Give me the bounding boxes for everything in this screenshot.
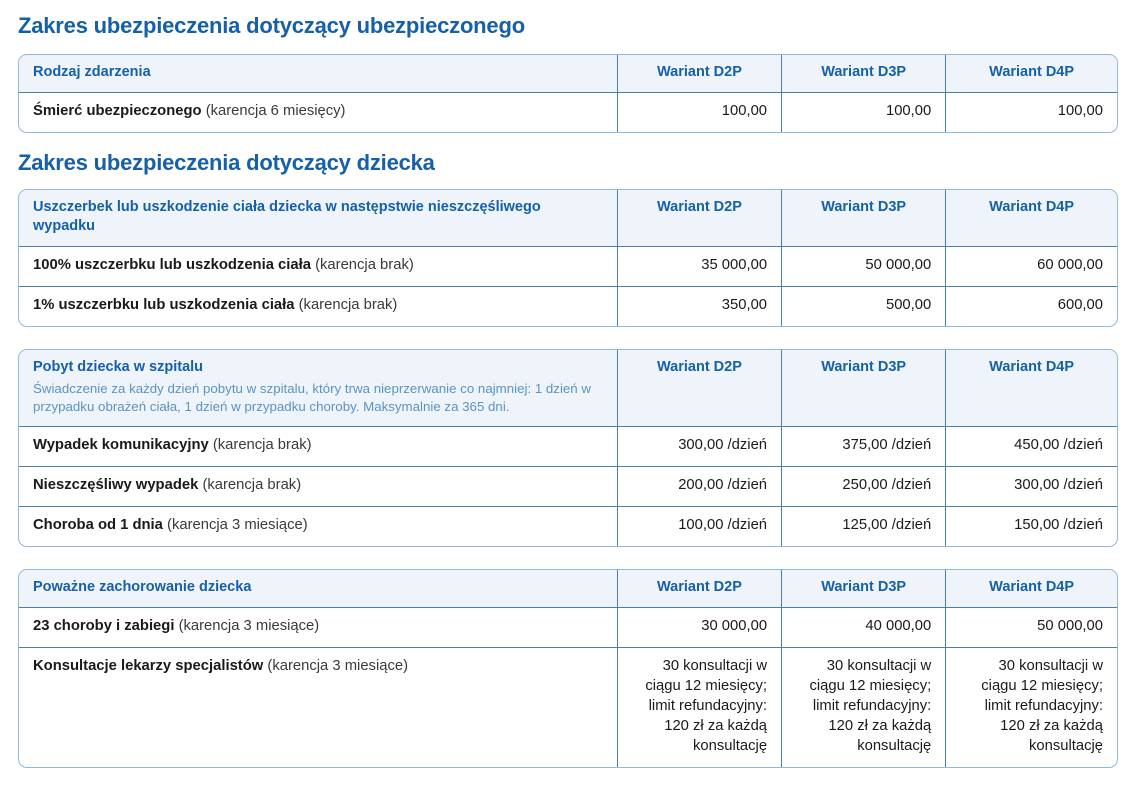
row-label-note: (karencja brak) (202, 477, 301, 493)
cell-value-d4p: 30 konsultacji w ciągu 12 miesięcy; limi… (946, 647, 1117, 766)
cell-value-d3p: 500,00 (782, 287, 946, 326)
row-label: Nieszczęśliwy wypadek (karencja brak) (19, 467, 617, 507)
column-header-variant-d4p: Wariant D4P (946, 55, 1117, 92)
row-label-bold: Wypadek komunikacyjny (33, 437, 209, 453)
table-body: 23 choroby i zabiegi (karencja 3 miesiąc… (19, 607, 1117, 766)
cell-value-d3p: 40 000,00 (782, 607, 946, 647)
row-label-note: (karencja 3 miesiące) (167, 517, 308, 533)
spacer (18, 327, 1118, 349)
header-title: Rodzaj zdarzenia (33, 64, 151, 80)
column-header-variant-d2p: Wariant D2P (617, 55, 781, 92)
column-header-variant-d3p: Wariant D3P (782, 190, 946, 247)
header-row: Poważne zachorowanie dziecka Wariant D2P… (19, 570, 1117, 607)
row-label-note: (karencja 6 miesięcy) (206, 103, 346, 119)
table-row: Choroba od 1 dnia (karencja 3 miesiące) … (19, 507, 1117, 546)
table-body: Wypadek komunikacyjny (karencja brak) 30… (19, 427, 1117, 546)
row-label-note: (karencja brak) (213, 437, 312, 453)
table-header: Poważne zachorowanie dziecka Wariant D2P… (19, 570, 1117, 607)
table: Poważne zachorowanie dziecka Wariant D2P… (19, 570, 1117, 766)
row-label-bold: Nieszczęśliwy wypadek (33, 477, 198, 493)
row-label: 100% uszczerbku lub uszkodzenia ciała (k… (19, 247, 617, 287)
column-header-variant-d2p: Wariant D2P (617, 190, 781, 247)
row-label-note: (karencja brak) (315, 257, 414, 273)
table-row: Konsultacje lekarzy specjalistów (karenc… (19, 647, 1117, 766)
row-label: Śmierć ubezpieczonego (karencja 6 miesię… (19, 92, 617, 131)
column-header-description: Pobyt dziecka w szpitalu Świadczenie za … (19, 350, 617, 427)
cell-value-d3p: 50 000,00 (782, 247, 946, 287)
table-child-hospital-stay: Pobyt dziecka w szpitalu Świadczenie za … (18, 349, 1118, 547)
cell-value-d2p: 100,00 /dzień (617, 507, 781, 546)
column-header-description: Uszczerbek lub uszkodzenie ciała dziecka… (19, 190, 617, 247)
row-label-bold: 100% uszczerbku lub uszkodzenia ciała (33, 257, 311, 273)
table-row: Śmierć ubezpieczonego (karencja 6 miesię… (19, 92, 1117, 131)
table-header: Uszczerbek lub uszkodzenie ciała dziecka… (19, 190, 1117, 247)
cell-value-d4p: 60 000,00 (946, 247, 1117, 287)
cell-value-d3p: 30 konsultacji w ciągu 12 miesięcy; limi… (782, 647, 946, 766)
table: Uszczerbek lub uszkodzenie ciała dziecka… (19, 190, 1117, 326)
cell-value-d2p: 350,00 (617, 287, 781, 326)
row-label-bold: Konsultacje lekarzy specjalistów (33, 658, 263, 674)
header-title: Uszczerbek lub uszkodzenie ciała dziecka… (33, 199, 541, 235)
cell-value-d2p: 30 000,00 (617, 607, 781, 647)
table-body: Śmierć ubezpieczonego (karencja 6 miesię… (19, 92, 1117, 131)
cell-value-d4p: 300,00 /dzień (946, 467, 1117, 507)
row-label-note: (karencja 3 miesiące) (267, 658, 408, 674)
row-label: 23 choroby i zabiegi (karencja 3 miesiąc… (19, 607, 617, 647)
cell-value-d2p: 100,00 (617, 92, 781, 131)
row-label-bold: Choroba od 1 dnia (33, 517, 163, 533)
cell-value-d2p: 35 000,00 (617, 247, 781, 287)
row-label-bold: Śmierć ubezpieczonego (33, 103, 202, 119)
column-header-variant-d4p: Wariant D4P (946, 350, 1117, 427)
row-label: Choroba od 1 dnia (karencja 3 miesiące) (19, 507, 617, 546)
row-label-bold: 23 choroby i zabiegi (33, 618, 174, 634)
cell-value-d4p: 50 000,00 (946, 607, 1117, 647)
cell-value-d4p: 100,00 (946, 92, 1117, 131)
spacer (18, 175, 1118, 189)
column-header-description: Poważne zachorowanie dziecka (19, 570, 617, 607)
header-title: Pobyt dziecka w szpitalu (33, 359, 203, 375)
cell-value-d3p: 250,00 /dzień (782, 467, 946, 507)
spacer (18, 38, 1118, 54)
spacer (18, 547, 1118, 569)
column-header-variant-d3p: Wariant D3P (782, 350, 946, 427)
header-subtitle: Świadczenie za każdy dzień pobytu w szpi… (33, 380, 603, 418)
cell-value-d3p: 125,00 /dzień (782, 507, 946, 546)
table-child-serious-illness: Poważne zachorowanie dziecka Wariant D2P… (18, 569, 1118, 767)
cell-value-d3p: 100,00 (782, 92, 946, 131)
table-insured-scope: Rodzaj zdarzenia Wariant D2P Wariant D3P… (18, 54, 1118, 133)
table: Pobyt dziecka w szpitalu Świadczenie za … (19, 350, 1117, 546)
row-label: Wypadek komunikacyjny (karencja brak) (19, 427, 617, 467)
cell-value-d2p: 200,00 /dzień (617, 467, 781, 507)
column-header-variant-d4p: Wariant D4P (946, 190, 1117, 247)
cell-value-d4p: 450,00 /dzień (946, 427, 1117, 467)
table-row: Wypadek komunikacyjny (karencja brak) 30… (19, 427, 1117, 467)
header-row: Uszczerbek lub uszkodzenie ciała dziecka… (19, 190, 1117, 247)
header-row: Rodzaj zdarzenia Wariant D2P Wariant D3P… (19, 55, 1117, 92)
row-label-note: (karencja brak) (299, 297, 398, 313)
section-heading-child: Zakres ubezpieczenia dotyczący dziecka (18, 133, 1118, 175)
column-header-variant-d4p: Wariant D4P (946, 570, 1117, 607)
table-header: Pobyt dziecka w szpitalu Świadczenie za … (19, 350, 1117, 427)
table-row: 1% uszczerbku lub uszkodzenia ciała (kar… (19, 287, 1117, 326)
column-header-description: Rodzaj zdarzenia (19, 55, 617, 92)
row-label-bold: 1% uszczerbku lub uszkodzenia ciała (33, 297, 295, 313)
table-header: Rodzaj zdarzenia Wariant D2P Wariant D3P… (19, 55, 1117, 92)
cell-value-d3p: 375,00 /dzień (782, 427, 946, 467)
row-label: 1% uszczerbku lub uszkodzenia ciała (kar… (19, 287, 617, 326)
header-row: Pobyt dziecka w szpitalu Świadczenie za … (19, 350, 1117, 427)
row-label: Konsultacje lekarzy specjalistów (karenc… (19, 647, 617, 766)
document-page: Zakres ubezpieczenia dotyczący ubezpiecz… (0, 0, 1136, 805)
column-header-variant-d3p: Wariant D3P (782, 55, 946, 92)
cell-value-d4p: 150,00 /dzień (946, 507, 1117, 546)
table: Rodzaj zdarzenia Wariant D2P Wariant D3P… (19, 55, 1117, 132)
table-child-bodily-injury: Uszczerbek lub uszkodzenie ciała dziecka… (18, 189, 1118, 327)
section-heading-insured: Zakres ubezpieczenia dotyczący ubezpiecz… (18, 0, 1118, 38)
cell-value-d4p: 600,00 (946, 287, 1117, 326)
table-row: 100% uszczerbku lub uszkodzenia ciała (k… (19, 247, 1117, 287)
column-header-variant-d2p: Wariant D2P (617, 570, 781, 607)
table-row: Nieszczęśliwy wypadek (karencja brak) 20… (19, 467, 1117, 507)
row-label-note: (karencja 3 miesiące) (179, 618, 320, 634)
table-body: 100% uszczerbku lub uszkodzenia ciała (k… (19, 247, 1117, 326)
cell-value-d2p: 30 konsultacji w ciągu 12 miesięcy; limi… (617, 647, 781, 766)
column-header-variant-d2p: Wariant D2P (617, 350, 781, 427)
table-row: 23 choroby i zabiegi (karencja 3 miesiąc… (19, 607, 1117, 647)
cell-value-d2p: 300,00 /dzień (617, 427, 781, 467)
column-header-variant-d3p: Wariant D3P (782, 570, 946, 607)
header-title: Poważne zachorowanie dziecka (33, 579, 251, 595)
